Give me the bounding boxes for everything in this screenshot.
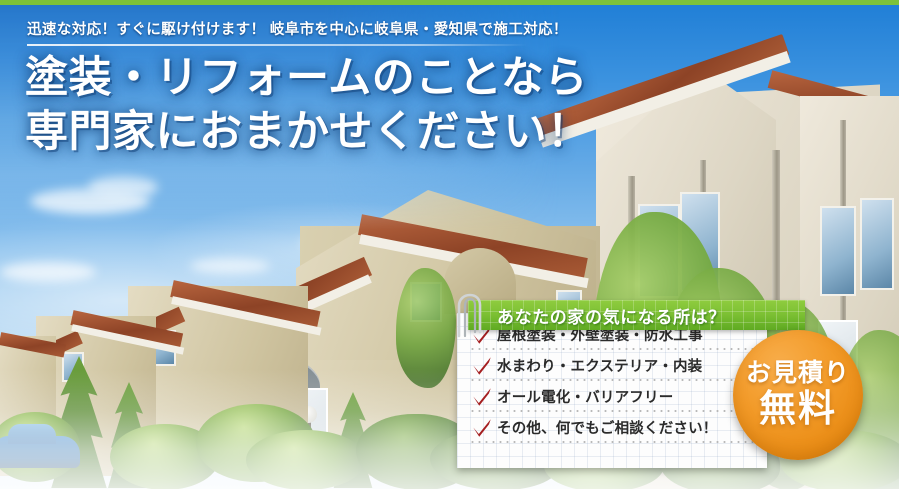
list-item[interactable]: その他、何でもご相談ください！ — [457, 412, 767, 443]
headline-line-2: 専門家におまかせください！ — [25, 106, 580, 160]
list-item[interactable]: 水まわり・エクステリア・内装 — [457, 350, 767, 381]
paperclip-icon — [449, 292, 485, 338]
list-item[interactable]: オール電化・バリアフリー — [457, 381, 767, 412]
free-estimate-badge[interactable]: お見積り 無料 — [733, 330, 863, 460]
window — [820, 206, 856, 296]
check-icon — [471, 417, 493, 439]
list-item-label: その他、何でもご相談ください！ — [497, 417, 718, 438]
headline-line-1: 塗装・リフォームのことなら — [25, 53, 588, 103]
list-item-label: オール電化・バリアフリー — [497, 386, 673, 407]
page-title: 塗装・リフォームのことなら 専門家におまかせください！ — [0, 52, 580, 160]
badge-line-2: 無料 — [759, 390, 837, 429]
window — [860, 198, 894, 290]
top-green-trim — [0, 0, 899, 5]
checklist-header-bar: あなたの家の気になる所は？ — [468, 300, 805, 330]
row-divider — [469, 441, 759, 443]
badge-line-1: お見積り — [746, 361, 850, 386]
cloud — [0, 262, 96, 282]
check-icon — [471, 355, 493, 377]
hero-banner: 迅速な対応！すぐに駆け付けます！ 岐阜市を中心に岐阜県・愛知県で施工対応！ 塗装… — [0, 0, 899, 489]
checklist-panel: 屋根塗装・外壁塗装・防水工事 水まわり・エクステリア・内装 — [457, 313, 767, 468]
cloud — [190, 258, 270, 274]
tagline: 迅速な対応！すぐに駆け付けます！ 岐阜市を中心に岐阜県・愛知県で施工対応！ — [0, 22, 580, 39]
tagline-rule — [27, 44, 527, 46]
check-icon — [471, 386, 493, 408]
headline-block: 迅速な対応！すぐに駆け付けます！ 岐阜市を中心に岐阜県・愛知県で施工対応！ 塗装… — [0, 22, 580, 160]
checklist-header-title: あなたの家の気になる所は？ — [468, 303, 726, 328]
checklist-rows: 屋根塗装・外壁塗装・防水工事 水まわり・エクステリア・内装 — [457, 319, 767, 443]
list-item-label: 水まわり・エクステリア・内装 — [497, 355, 702, 376]
